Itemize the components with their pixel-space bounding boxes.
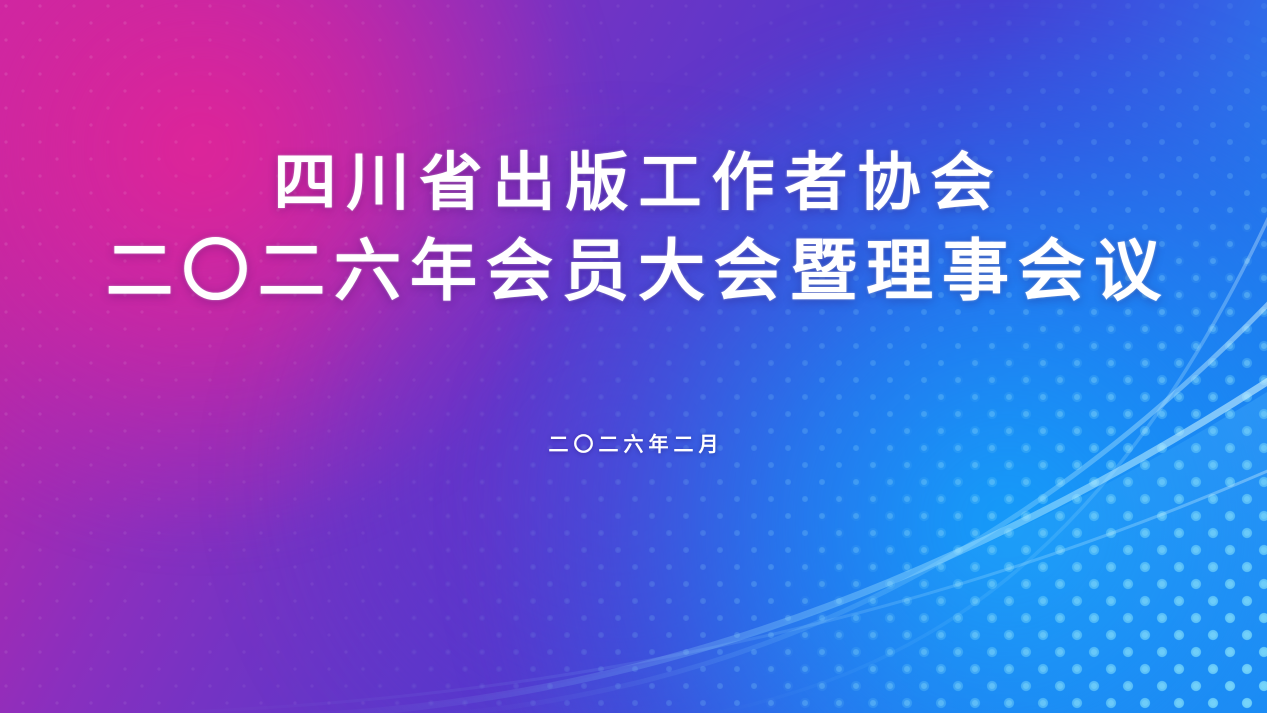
- conference-title-slide: 四川省出版工作者协会 二〇二六年会员大会暨理事会议 二〇二六年二月: [0, 0, 1267, 713]
